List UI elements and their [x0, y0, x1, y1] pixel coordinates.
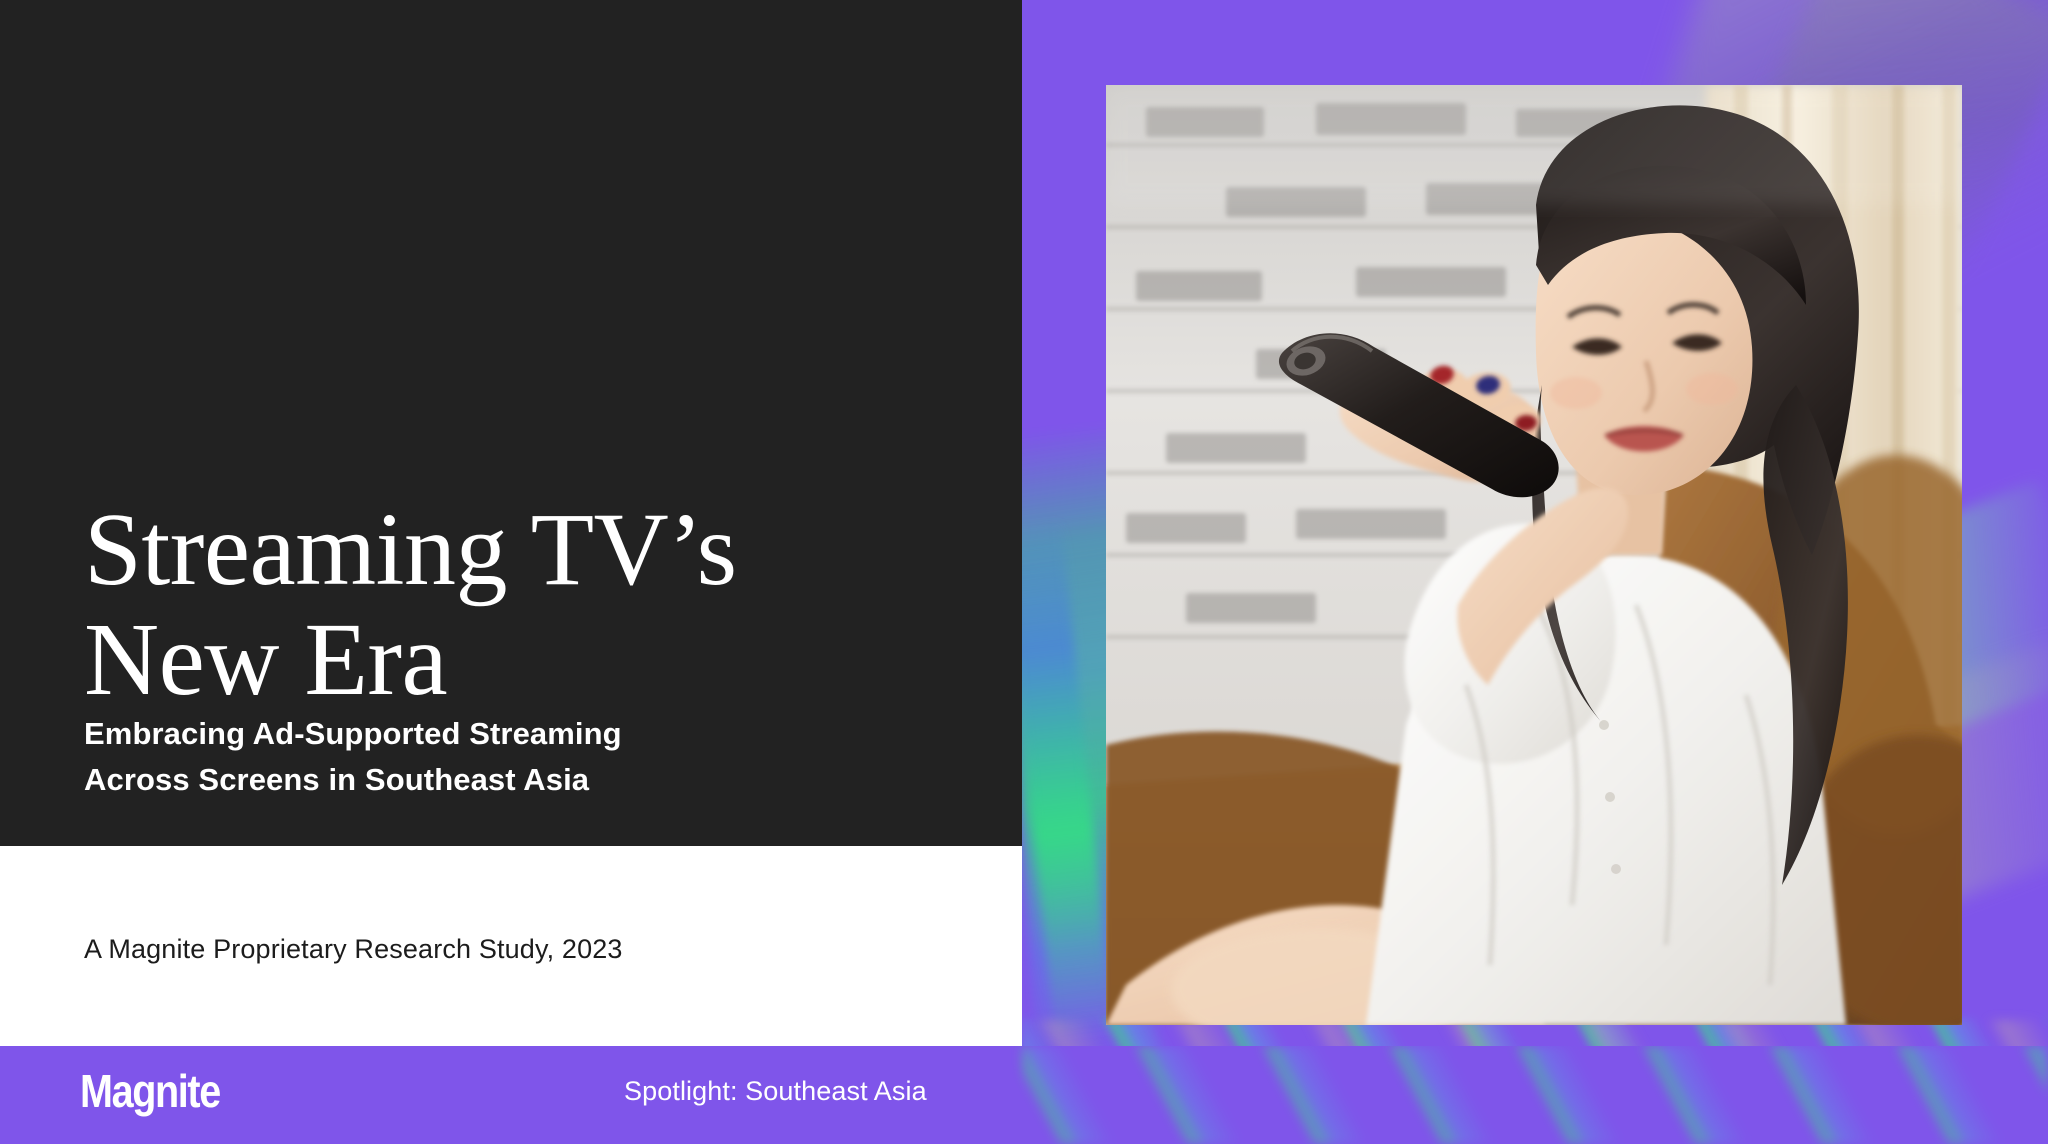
- brush-stroke-footer-icon: [1022, 1046, 2048, 1144]
- subtitle-line-1: Embracing Ad-Supported Streaming: [84, 711, 904, 757]
- subtitle-line-2: Across Screens in Southeast Asia: [84, 757, 904, 803]
- page-subtitle: Embracing Ad-Supported Streaming Across …: [84, 711, 904, 803]
- brush-stroke-green-left-2-icon: [1022, 518, 1115, 1041]
- title-line-1: Streaming TV’s: [84, 495, 964, 605]
- title-line-2: New Era: [84, 605, 964, 715]
- footer-bar: [0, 1046, 2048, 1144]
- page-title: Streaming TV’s New Era: [84, 495, 964, 715]
- footer-caption: Spotlight: Southeast Asia: [624, 1078, 927, 1105]
- magnite-logo: Magnite: [80, 1068, 220, 1114]
- presentation-slide: Streaming TV’s New Era Embracing Ad-Supp…: [0, 0, 2048, 1144]
- study-credit-text: A Magnite Proprietary Research Study, 20…: [84, 934, 623, 965]
- hero-photo: [1106, 85, 1962, 1025]
